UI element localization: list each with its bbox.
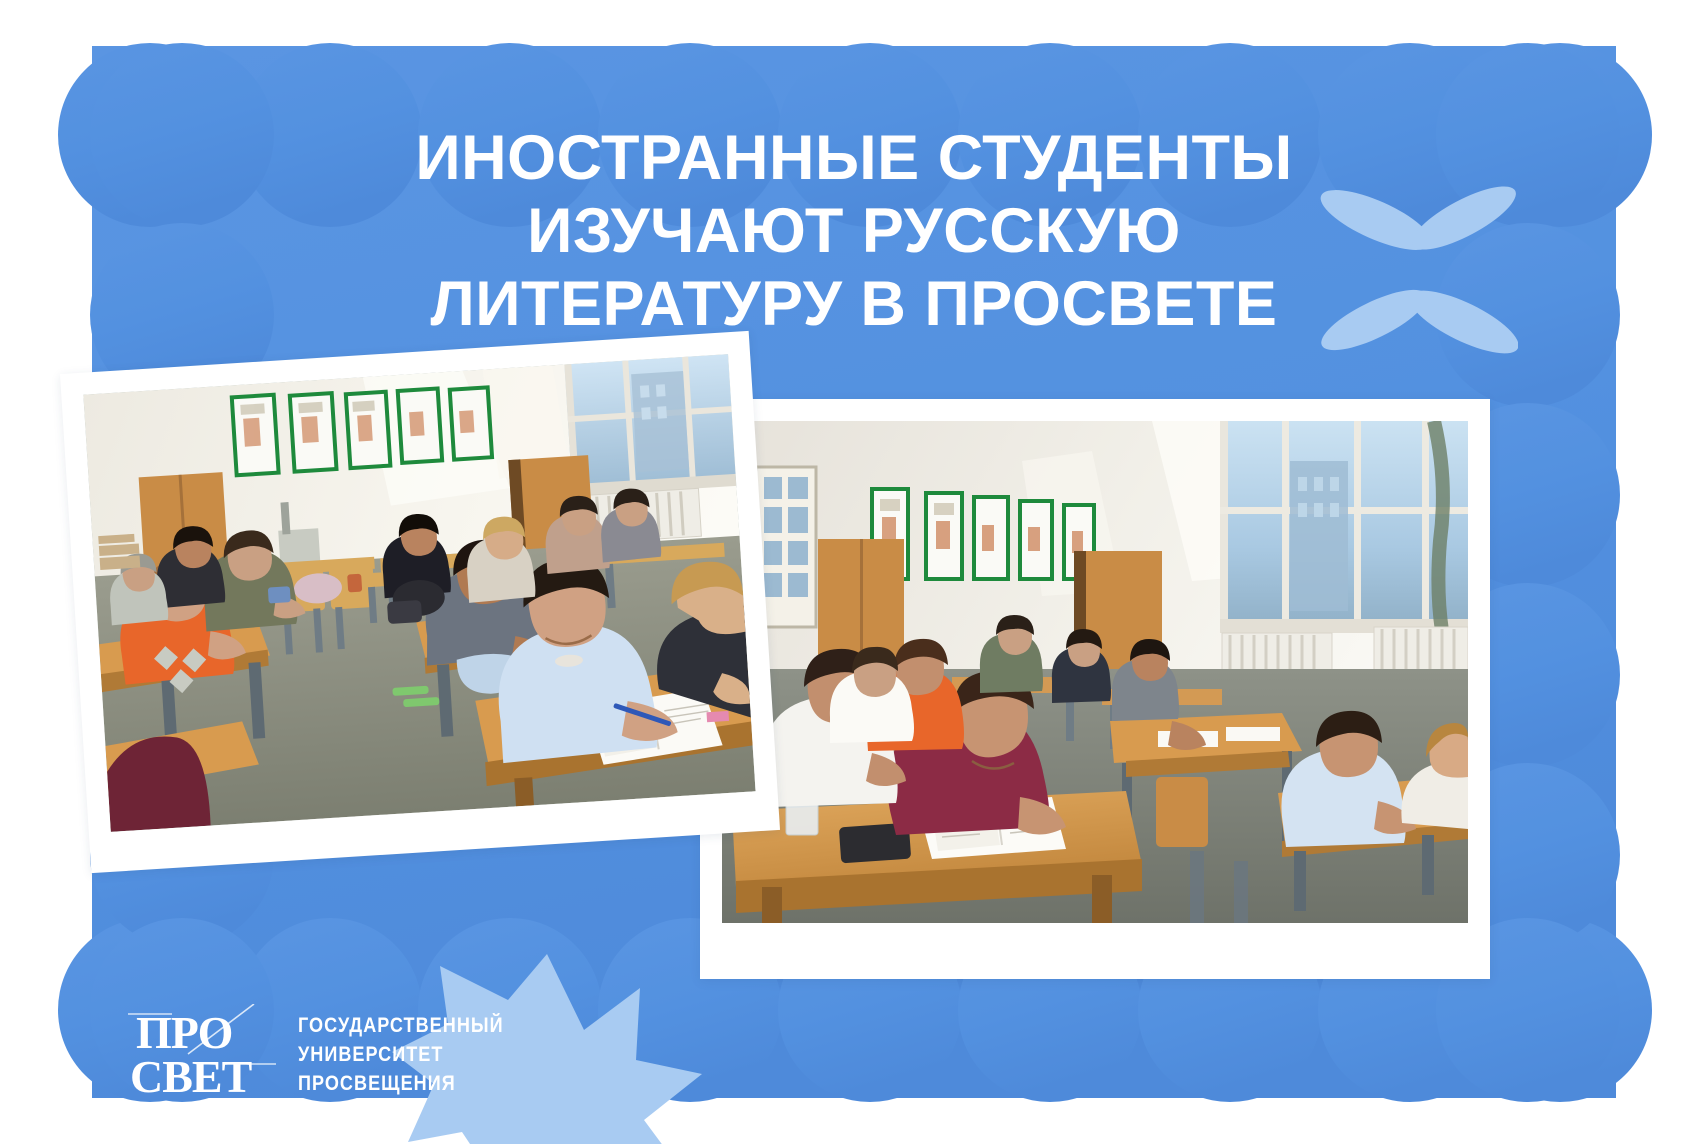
- title-line-3: ЛИТЕРАТУРУ В ПРОСВЕТЕ: [0, 268, 1708, 341]
- logo-mark-prosvet: ПРО СВЕТ: [128, 1004, 276, 1100]
- photo-right-frame: [700, 399, 1490, 979]
- logo-word-2: УНИВЕРСИТЕТ: [298, 1043, 504, 1066]
- photo-left-frame: [60, 331, 780, 873]
- title-line-2: ИЗУЧАЮТ РУССКУЮ: [0, 195, 1708, 268]
- logo-word-1: ГОСУДАРСТВЕННЫЙ: [298, 1014, 504, 1037]
- logo: ПРО СВЕТ ГОСУДАРСТВЕННЫЙ УНИВЕРСИТЕТ ПРО…: [128, 1004, 537, 1100]
- photo-right-image: [722, 421, 1468, 923]
- title-line-1: ИНОСТРАННЫЕ СТУДЕНТЫ: [0, 122, 1708, 195]
- logo-wordmark: ГОСУДАРСТВЕННЫЙ УНИВЕРСИТЕТ ПРОСВЕЩЕНИЯ: [298, 1010, 537, 1095]
- logo-word-3: ПРОСВЕЩЕНИЯ: [298, 1072, 504, 1095]
- photo-left-image: [83, 354, 755, 832]
- poster-canvas: ИНОСТРАННЫЕ СТУДЕНТЫ ИЗУЧАЮТ РУССКУЮ ЛИТ…: [0, 0, 1708, 1144]
- svg-text:СВЕТ: СВЕТ: [130, 1051, 252, 1100]
- page-title: ИНОСТРАННЫЕ СТУДЕНТЫ ИЗУЧАЮТ РУССКУЮ ЛИТ…: [0, 122, 1708, 341]
